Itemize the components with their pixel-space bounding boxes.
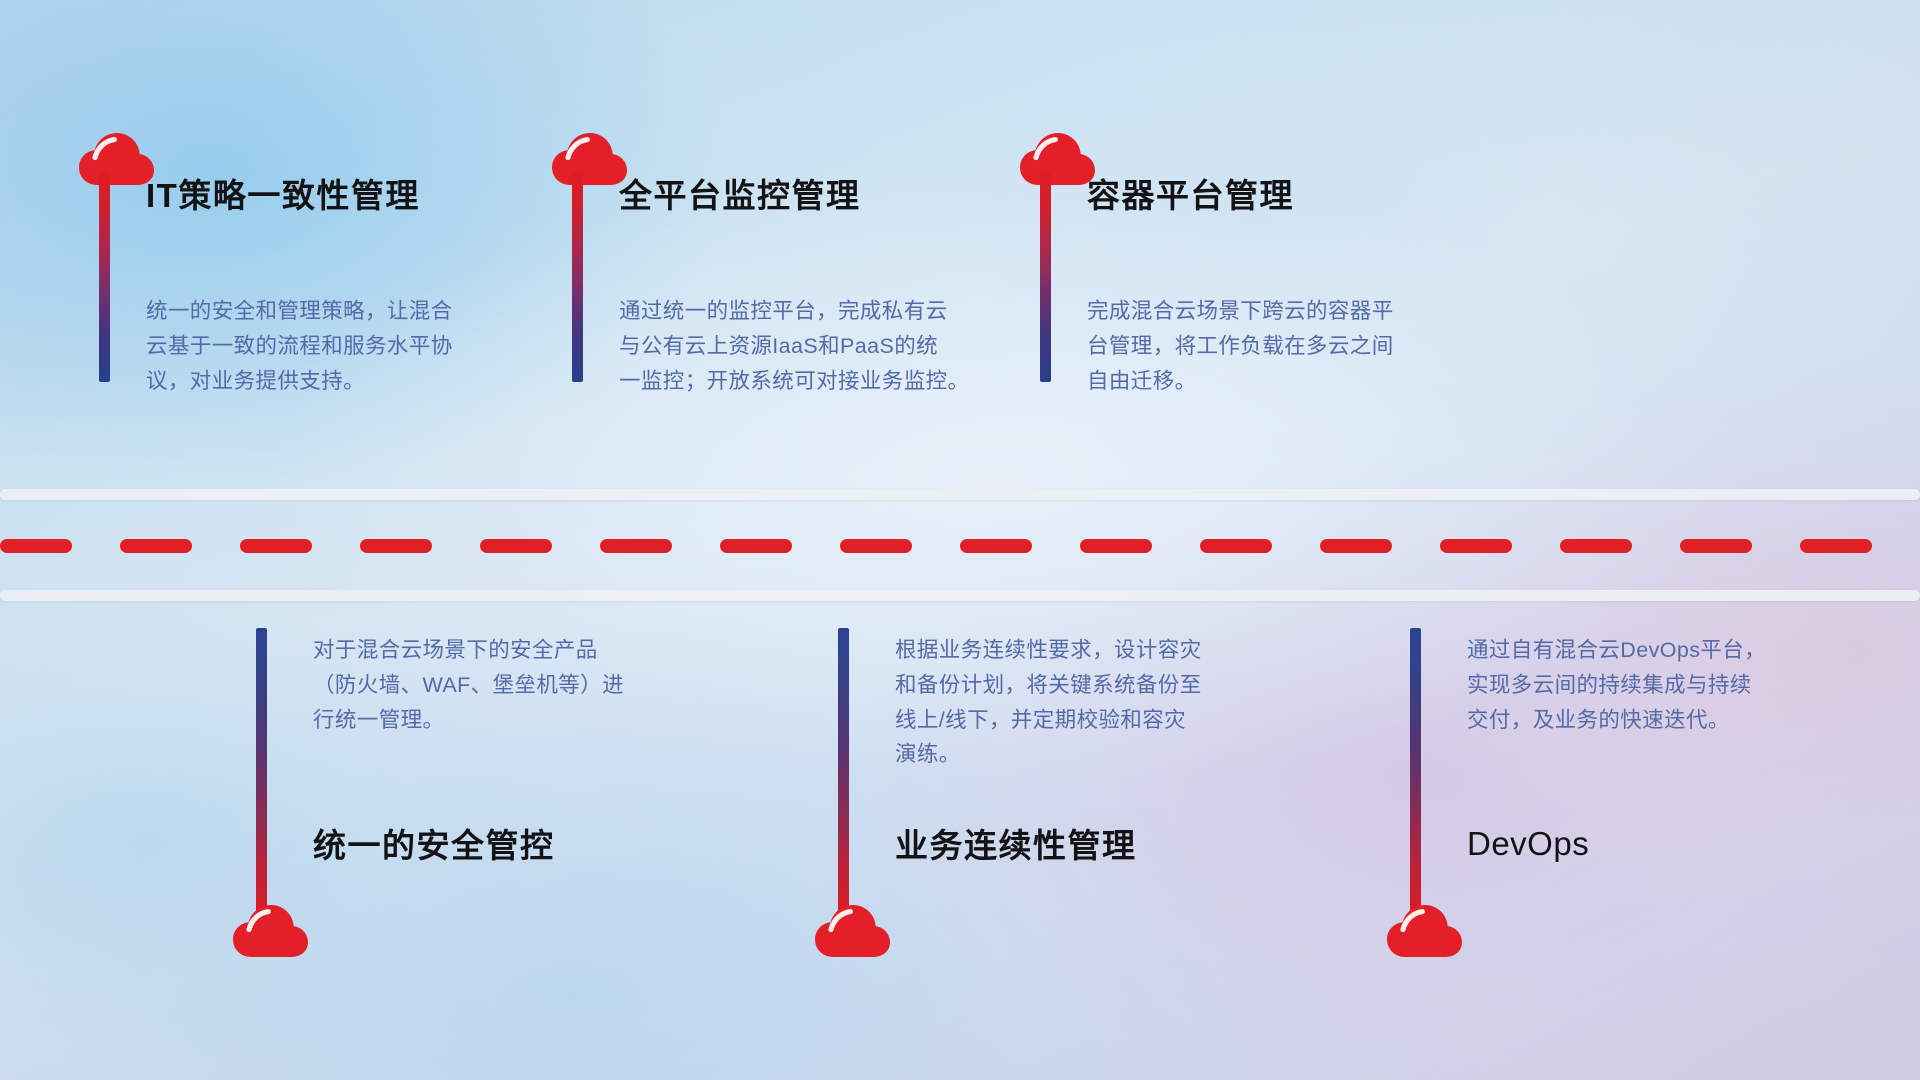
- road-dash-segment: [360, 539, 432, 553]
- road-dash-segment: [240, 539, 312, 553]
- road-dash-segment: [120, 539, 192, 553]
- road-dash-segment: [1680, 539, 1752, 553]
- road-dash-segment: [1080, 539, 1152, 553]
- road-dash-segment: [1320, 539, 1392, 553]
- cloud-icon-business-continuity: [814, 903, 892, 959]
- pin-stick-full-platform-monitoring: [572, 172, 583, 382]
- body-container-platform: 完成混合云场景下跨云的容器平 台管理，将工作负载在多云之间 自由迁移。: [1087, 294, 1477, 398]
- road-dash-segment: [1440, 539, 1512, 553]
- cloud-icon-unified-security: [232, 903, 310, 959]
- pin-stick-unified-security: [256, 628, 267, 918]
- heading-unified-security: 统一的安全管控: [313, 828, 555, 864]
- body-it-policy: 统一的安全和管理策略，让混合 云基于一致的流程和服务水平协 议，对业务提供支持。: [146, 294, 526, 398]
- cloud-icon-it-policy: [78, 131, 156, 187]
- road-dash-segment: [840, 539, 912, 553]
- road-dash-segment: [1800, 539, 1872, 553]
- pin-stick-devops: [1410, 628, 1421, 918]
- heading-container-platform: 容器平台管理: [1087, 178, 1294, 214]
- road-dash-segment: [1200, 539, 1272, 553]
- body-devops: 通过自有混合云DevOps平台， 实现多云间的持续集成与持续 交付，及业务的快速…: [1467, 633, 1867, 737]
- cloud-icon-full-platform-monitoring: [551, 131, 629, 187]
- road-dash-segment: [0, 539, 72, 553]
- heading-business-continuity: 业务连续性管理: [895, 828, 1137, 864]
- road-dash-segment: [960, 539, 1032, 553]
- road-dash-segment: [720, 539, 792, 553]
- cloud-icon-devops: [1386, 903, 1464, 959]
- pin-stick-it-policy: [99, 172, 110, 382]
- road-line-bottom: [0, 590, 1920, 601]
- pin-stick-business-continuity: [838, 628, 849, 918]
- cloud-icon-container-platform: [1019, 131, 1097, 187]
- heading-full-platform-monitoring: 全平台监控管理: [619, 178, 861, 214]
- road-line-top: [0, 489, 1920, 500]
- road-dash-segment: [480, 539, 552, 553]
- body-unified-security: 对于混合云场景下的安全产品 （防火墙、WAF、堡垒机等）进 行统一管理。: [313, 633, 713, 737]
- road-dash-segment: [1560, 539, 1632, 553]
- road-dashed-center-line: [0, 539, 1920, 553]
- road-divider: [0, 489, 1920, 601]
- infographic-canvas: IT策略一致性管理 统一的安全和管理策略，让混合 云基于一致的流程和服务水平协 …: [0, 0, 1920, 1080]
- heading-it-policy: IT策略一致性管理: [146, 178, 420, 214]
- heading-devops: DevOps: [1467, 826, 1589, 862]
- road-dash-segment: [600, 539, 672, 553]
- body-business-continuity: 根据业务连续性要求，设计容灾 和备份计划，将关键系统备份至 线上/线下，并定期校…: [895, 633, 1295, 772]
- body-full-platform-monitoring: 通过统一的监控平台，完成私有云 与公有云上资源IaaS和PaaS的统 一监控；开…: [619, 294, 1019, 398]
- pin-stick-container-platform: [1040, 172, 1051, 382]
